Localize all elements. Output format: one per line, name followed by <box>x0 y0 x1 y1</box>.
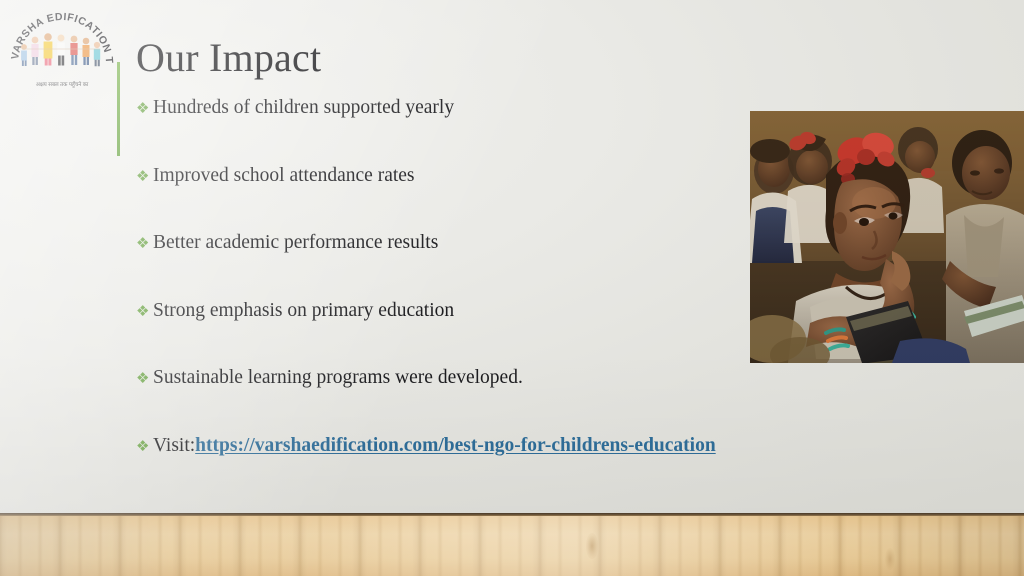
list-item: ❖ Sustainable learning programs were dev… <box>136 366 736 434</box>
page-title: Our Impact <box>136 33 321 83</box>
diamond-bullet-icon: ❖ <box>136 98 153 118</box>
presentation-slide: VARSHA EDIFICATION TRUST <box>0 0 1024 576</box>
diamond-bullet-icon: ❖ <box>136 301 153 321</box>
visit-label: Visit: <box>153 434 195 458</box>
list-item-visit-link: ❖ Visit: https://varshaedification.com/b… <box>136 434 736 502</box>
wood-strip <box>0 516 1024 576</box>
diamond-bullet-icon: ❖ <box>136 166 153 186</box>
list-item-label: Better academic performance results <box>153 231 438 255</box>
list-item: ❖ Improved school attendance rates <box>136 164 736 232</box>
classroom-photo <box>750 111 1024 363</box>
varsha-edification-trust-logo: VARSHA EDIFICATION TRUST <box>8 2 116 100</box>
list-item: ❖ Strong emphasis on primary education <box>136 299 736 367</box>
svg-text:अक्षय सबल तक पहुँचने का: अक्षय सबल तक पहुँचने का <box>36 81 89 88</box>
list-item: ❖ Hundreds of children supported yearly <box>136 96 736 164</box>
title-accent-bar <box>117 62 120 156</box>
diamond-bullet-icon: ❖ <box>136 233 153 253</box>
wood-grain-knot <box>885 548 895 570</box>
diamond-bullet-icon: ❖ <box>136 436 153 456</box>
list-item-label: Strong emphasis on primary education <box>153 299 454 323</box>
impact-bullet-list: ❖ Hundreds of children supported yearly … <box>136 96 736 501</box>
list-item-label: Hundreds of children supported yearly <box>153 96 454 120</box>
list-item: ❖ Better academic performance results <box>136 231 736 299</box>
list-item-label: Improved school attendance rates <box>153 164 415 188</box>
diamond-bullet-icon: ❖ <box>136 368 153 388</box>
list-item-label: Sustainable learning programs were devel… <box>153 366 523 390</box>
website-link[interactable]: https://varshaedification.com/best-ngo-f… <box>195 434 716 458</box>
wood-grain-knot <box>586 533 598 559</box>
